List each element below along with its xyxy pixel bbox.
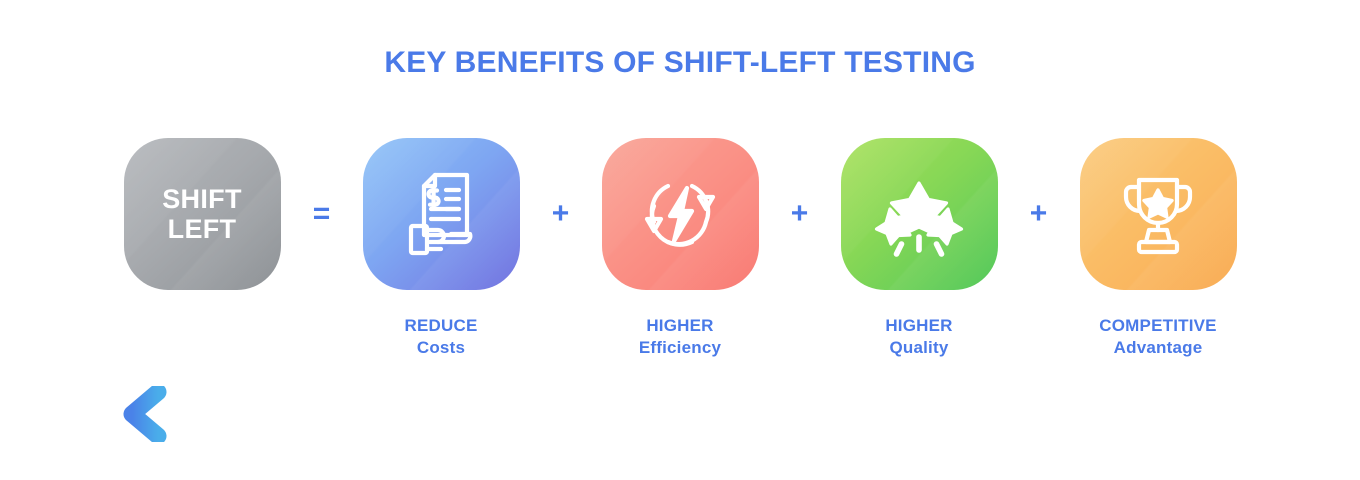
benefit-line2: Efficiency	[639, 337, 721, 359]
benefit-cell-higher-quality: HIGHER Quality	[841, 138, 998, 359]
benefit-tile-competitive-advantage	[1080, 138, 1237, 290]
leftward-arrow-icon	[112, 386, 1252, 442]
operator-plus-3: +	[998, 138, 1080, 290]
benefits-equation-row: SHIFT LEFT =	[0, 138, 1360, 358]
benefit-tile-higher-efficiency	[602, 138, 759, 290]
page-title: KEY BENEFITS OF SHIFT-LEFT TESTING	[0, 46, 1360, 80]
shift-left-tile: SHIFT LEFT	[124, 138, 281, 290]
benefit-cell-higher-efficiency: HIGHER Efficiency	[602, 138, 759, 359]
three-stars-icon	[869, 164, 969, 264]
lightning-refresh-icon	[630, 164, 730, 264]
benefit-caption-competitive-advantage: COMPETITIVE Advantage	[1099, 315, 1216, 359]
operator-plus-2: +	[759, 138, 841, 290]
invoice-in-hand-icon	[391, 164, 491, 264]
shift-left-cell: SHIFT LEFT	[124, 138, 281, 290]
benefit-line1: HIGHER	[885, 315, 952, 337]
benefit-line2: Quality	[885, 337, 952, 359]
benefit-caption-reduce-costs: REDUCE Costs	[405, 315, 478, 359]
trophy-icon	[1108, 164, 1208, 264]
benefit-line1: COMPETITIVE	[1099, 315, 1216, 337]
operator-plus-1: +	[520, 138, 602, 290]
benefit-line1: HIGHER	[639, 315, 721, 337]
benefit-tile-higher-quality	[841, 138, 998, 290]
benefit-caption-higher-quality: HIGHER Quality	[885, 315, 952, 359]
benefit-cell-competitive-advantage: COMPETITIVE Advantage	[1080, 138, 1237, 359]
benefit-line2: Advantage	[1099, 337, 1216, 359]
leftward-arrow	[112, 386, 1252, 442]
benefit-line1: REDUCE	[405, 315, 478, 337]
benefit-tile-reduce-costs	[363, 138, 520, 290]
benefit-line2: Costs	[405, 337, 478, 359]
benefit-caption-higher-efficiency: HIGHER Efficiency	[639, 315, 721, 359]
shift-left-line1: SHIFT	[162, 184, 242, 214]
shift-left-label: SHIFT LEFT	[162, 184, 242, 244]
shift-left-line2: LEFT	[168, 214, 237, 244]
benefit-cell-reduce-costs: REDUCE Costs	[363, 138, 520, 359]
operator-equals: =	[281, 138, 363, 290]
infographic-canvas: KEY BENEFITS OF SHIFT-LEFT TESTING SHIFT…	[0, 0, 1360, 480]
